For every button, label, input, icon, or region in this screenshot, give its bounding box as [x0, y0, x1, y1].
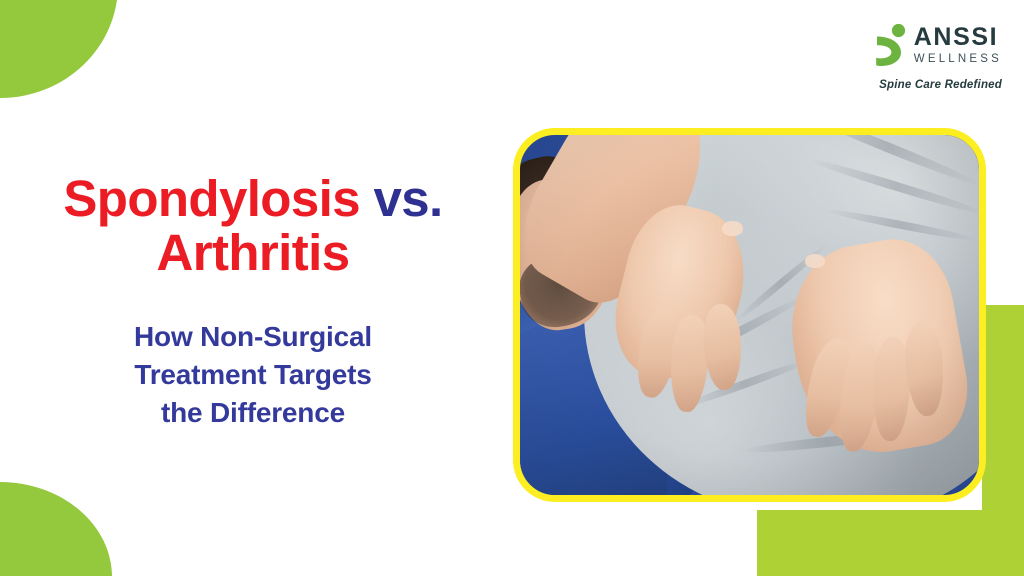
top-left-green-circle	[0, 0, 118, 98]
anssi-crescent-dot-icon	[873, 23, 907, 67]
page-subtitle: How Non-Surgical Treatment Targets the D…	[22, 318, 484, 432]
headline-line-1-accent: vs.	[374, 170, 443, 227]
logo-row: ANSSI WELLNESS	[852, 18, 1002, 72]
subhead-line-2: Treatment Targets	[134, 359, 371, 390]
logo-tagline: Spine Care Redefined	[852, 79, 1002, 91]
headline-line-2: Arthritis	[157, 224, 350, 281]
headline-line-1-main: Spondylosis	[63, 170, 373, 227]
logo-wordmark: ANSSI WELLNESS	[914, 25, 1002, 66]
photo-vignette	[520, 135, 979, 495]
page-title: Spondylosis vs. Arthritis	[22, 172, 484, 280]
bottom-left-green-circle	[0, 482, 112, 576]
logo-subname: WELLNESS	[914, 54, 1002, 66]
brand-logo[interactable]: ANSSI WELLNESS Spine Care Redefined	[852, 18, 1002, 91]
subhead-line-3: the Difference	[161, 397, 345, 428]
logo-name: ANSSI	[914, 25, 998, 50]
bottom-right-green-block	[757, 510, 1024, 576]
hero-photo-illustration	[520, 135, 979, 495]
promotional-banner: ANSSI WELLNESS Spine Care Redefined Spon…	[0, 0, 1024, 576]
hero-photo-frame	[513, 128, 986, 502]
text-column: Spondylosis vs. Arthritis How Non-Surgic…	[22, 172, 484, 432]
subhead-line-1: How Non-Surgical	[134, 321, 372, 352]
